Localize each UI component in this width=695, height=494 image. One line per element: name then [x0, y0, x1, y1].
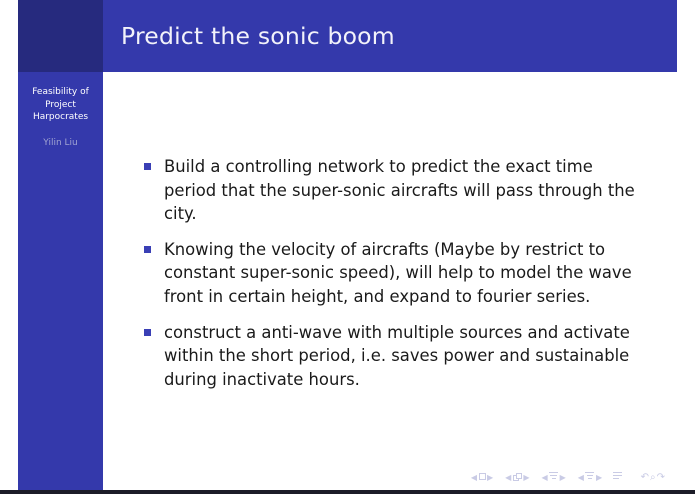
slide-navigation-group[interactable]: ◀ ▶ [504, 473, 531, 484]
frame-navigation-group[interactable]: ◀ ▶ [469, 473, 494, 483]
next-slide-icon[interactable]: ▶ [522, 473, 531, 483]
list-item: construct a anti-wave with multiple sour… [143, 321, 643, 392]
sidebar-author: Yilin Liu [18, 137, 103, 150]
list-item-text: construct a anti-wave with multiple sour… [164, 323, 630, 389]
sidebar-project-title: Feasibility of Project Harpocrates [18, 86, 103, 124]
sidebar-spacer [18, 72, 103, 86]
sidebar: Feasibility of Project Harpocrates Yilin… [18, 72, 103, 490]
next-section-icon[interactable]: ▶ [594, 473, 603, 483]
sidebar-header-block [18, 0, 103, 72]
bottom-rule [0, 490, 695, 494]
slide-body: Build a controlling network to predict t… [103, 72, 677, 490]
frame-icon[interactable] [479, 473, 486, 483]
subsection-navigation-group[interactable]: ◀ ▶ [540, 472, 567, 484]
presentation-page: Predict the sonic boom Feasibility of Pr… [0, 0, 695, 494]
document-icon[interactable] [613, 472, 622, 484]
beamer-navigation-symbols[interactable]: ◀ ▶ ◀ ▶ ◀ ▶ ◀ ▶ [469, 472, 665, 484]
list-item: Knowing the velocity of aircrafts (Maybe… [143, 238, 643, 309]
previous-frame-icon[interactable]: ◀ [469, 473, 478, 483]
section-icon[interactable] [585, 472, 594, 484]
list-item-text: Build a controlling network to predict t… [164, 157, 635, 223]
previous-subsection-icon[interactable]: ◀ [540, 473, 549, 483]
square-bullet-icon [144, 329, 151, 336]
search-icon[interactable]: ⌕ [650, 473, 656, 483]
section-navigation-group[interactable]: ◀ ▶ [576, 472, 603, 484]
document-navigation-group[interactable] [613, 472, 622, 484]
list-item-text: Knowing the velocity of aircrafts (Maybe… [164, 240, 632, 306]
subsection-icon[interactable] [549, 472, 558, 484]
page-title: Predict the sonic boom [121, 0, 395, 72]
previous-section-icon[interactable]: ◀ [576, 473, 585, 483]
next-subsection-icon[interactable]: ▶ [558, 473, 567, 483]
list-item: Build a controlling network to predict t… [143, 155, 643, 226]
square-bullet-icon [144, 246, 151, 253]
next-frame-icon[interactable]: ▶ [486, 473, 495, 483]
back-icon[interactable]: ↶ [641, 473, 649, 483]
history-navigation-group[interactable]: ↶ ⌕ ↷ [641, 473, 665, 483]
beamer-slide: Predict the sonic boom Feasibility of Pr… [18, 0, 677, 490]
bullet-list: Build a controlling network to predict t… [143, 155, 643, 391]
previous-slide-icon[interactable]: ◀ [504, 473, 513, 483]
square-bullet-icon [144, 163, 151, 170]
slide-stack-icon[interactable] [513, 473, 522, 484]
forward-icon[interactable]: ↷ [657, 473, 665, 483]
